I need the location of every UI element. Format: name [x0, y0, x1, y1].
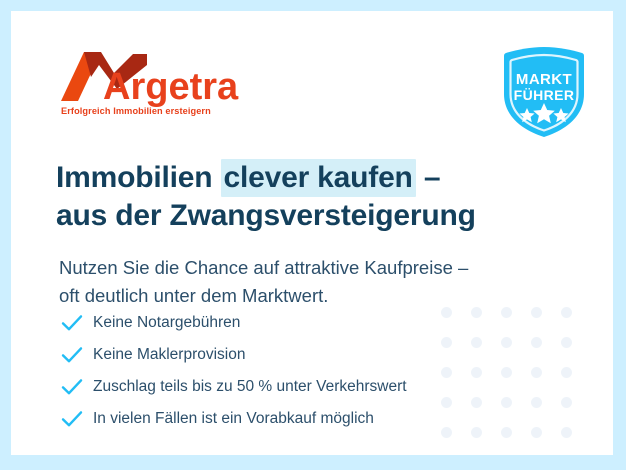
headline-line-2: aus der Zwangsversteigerung — [56, 197, 576, 235]
list-item-label: Keine Notargebühren — [93, 314, 240, 332]
banner-content-area: Argetra Erfolgreich Immobilien ersteiger… — [11, 11, 613, 455]
dot — [561, 367, 572, 378]
headline-highlight: clever kaufen — [221, 159, 416, 197]
headline-line-1: Immobilien clever kaufen – — [56, 159, 576, 197]
dot — [531, 367, 542, 378]
check-icon — [61, 376, 93, 398]
badge-line1: MARKT — [516, 71, 572, 88]
list-item-label: Keine Maklerprovision — [93, 346, 246, 364]
badge-line2: FÜHRER — [514, 87, 575, 103]
dot — [531, 397, 542, 408]
logo-wordmark: Argetra — [103, 66, 239, 108]
marktfuehrer-badge: MARKT FÜHRER — [496, 44, 592, 140]
list-item: Keine Maklerprovision — [61, 339, 531, 371]
logo-tagline: Erfolgreich Immobilien ersteigern — [61, 106, 211, 116]
page-title: Immobilien clever kaufen – aus der Zwang… — [56, 159, 576, 236]
list-item-label: Zuschlag teils bis zu 50 % unter Verkehr… — [93, 378, 407, 396]
check-icon — [61, 408, 93, 430]
dot — [561, 397, 572, 408]
list-item: Zuschlag teils bis zu 50 % unter Verkehr… — [61, 371, 531, 403]
subheadline-line-1: Nutzen Sie die Chance auf attraktive Kau… — [59, 254, 559, 282]
subheadline-line-2: oft deutlich unter dem Marktwert. — [59, 282, 559, 310]
check-icon — [61, 344, 93, 366]
list-item: In vielen Fällen ist ein Vorabkauf mögli… — [61, 403, 531, 435]
dot — [561, 427, 572, 438]
headline-text-after: – — [416, 161, 441, 194]
list-item: Keine Notargebühren — [61, 307, 531, 339]
dot — [531, 427, 542, 438]
dot — [561, 307, 572, 318]
dot — [531, 337, 542, 348]
promo-banner: Argetra Erfolgreich Immobilien ersteiger… — [0, 0, 626, 470]
benefits-list: Keine Notargebühren Keine Maklerprovisio… — [61, 307, 531, 435]
argetra-logo[interactable]: Argetra Erfolgreich Immobilien ersteiger… — [57, 49, 257, 119]
dot — [561, 337, 572, 348]
check-icon — [61, 312, 93, 334]
list-item-label: In vielen Fällen ist ein Vorabkauf mögli… — [93, 410, 374, 428]
subheadline: Nutzen Sie die Chance auf attraktive Kau… — [59, 254, 559, 310]
headline-text-before: Immobilien — [56, 161, 221, 194]
